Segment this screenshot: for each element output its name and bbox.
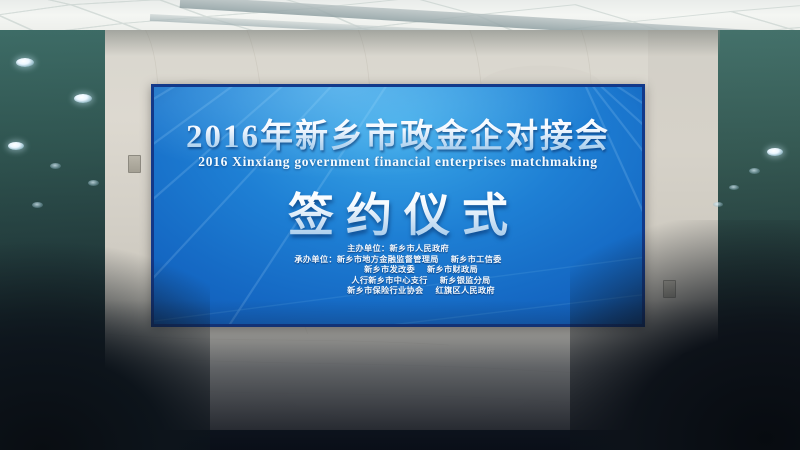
ceiling-spotlight-dim xyxy=(88,180,99,186)
ceiling-cast-shadow xyxy=(105,30,720,56)
audience-crowd xyxy=(0,300,800,450)
foreground-dark-left xyxy=(0,240,210,450)
ceiling-panel xyxy=(0,0,800,34)
ceiling-spotlight-dim xyxy=(32,202,43,208)
photo-scene: 2016年新乡市政金企对接会 2016 Xinxiang government … xyxy=(0,0,800,450)
ceiling-spotlight xyxy=(74,94,92,103)
ceiling-spotlight xyxy=(767,148,783,156)
ceiling-spotlight-dim xyxy=(50,163,61,169)
wall-socket-left xyxy=(128,155,141,173)
ceiling-spotlight-dim xyxy=(713,202,723,207)
ceiling-spotlight xyxy=(16,58,34,67)
foreground-dark-right xyxy=(570,220,800,450)
ceiling-spotlight-dim xyxy=(729,185,739,190)
screen-vignette xyxy=(154,87,642,324)
led-screen: 2016年新乡市政金企对接会 2016 Xinxiang government … xyxy=(154,87,642,324)
ceiling-spotlight xyxy=(8,142,24,150)
ceiling-spotlight-dim xyxy=(749,168,760,174)
